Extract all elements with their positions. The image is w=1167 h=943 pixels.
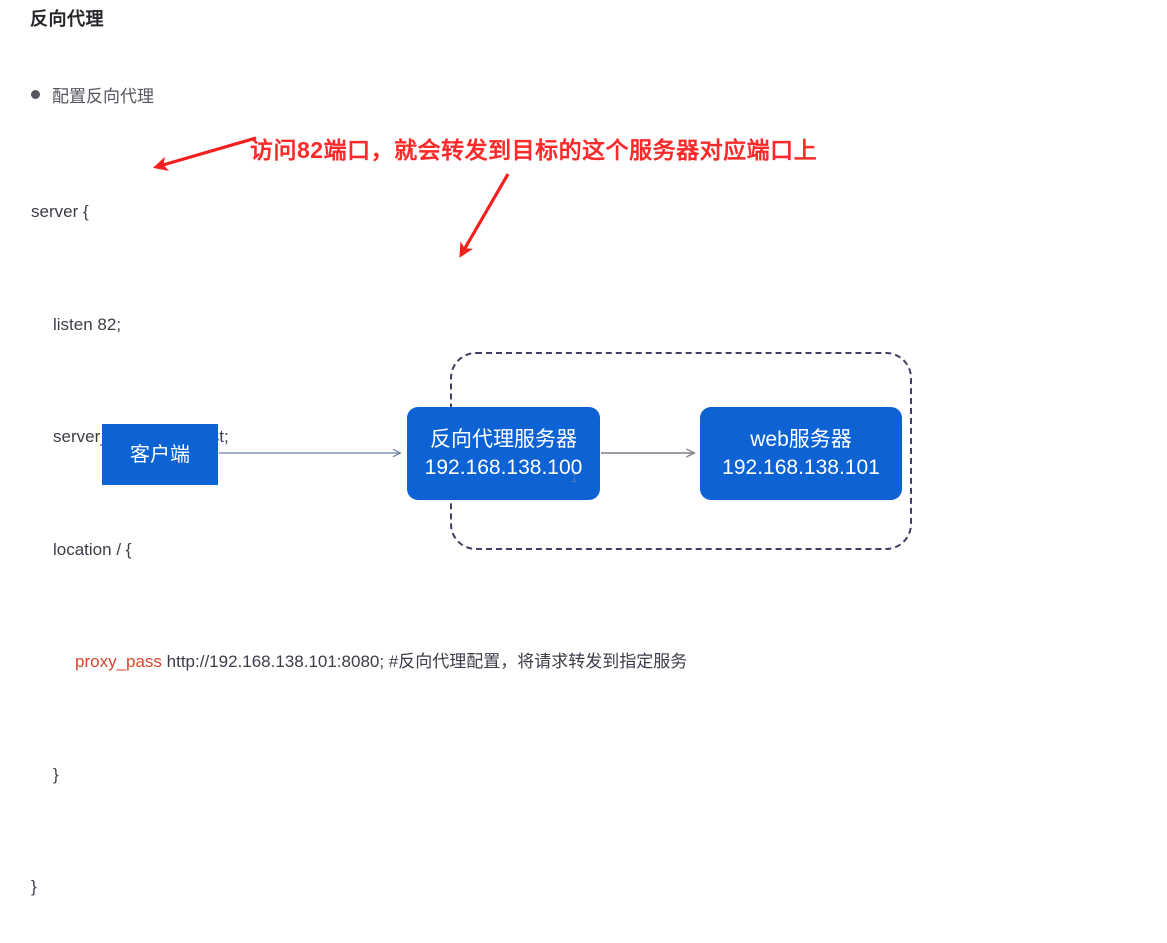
diagram-node-proxy-ip: 192.168.138.100 (425, 454, 583, 482)
reverse-proxy-diagram: 客户端 反向代理服务器 192.168.138.100 web服务器 192.1… (0, 0, 1167, 573)
code-proxy-pass-value: http://192.168.138.101:8080; #反向代理配置，将请求… (162, 652, 687, 671)
diagram-node-web-server[interactable]: web服务器 192.168.138.101 (700, 407, 902, 500)
diagram-node-proxy-title: 反向代理服务器 (430, 426, 577, 454)
diagram-node-web-ip: 192.168.138.101 (722, 454, 880, 482)
diagram-node-proxy-server[interactable]: 反向代理服务器 192.168.138.100 (407, 407, 600, 500)
text-cursor-icon: ⌶ (571, 474, 578, 485)
code-line-location-close: } (31, 756, 687, 794)
diagram-node-client[interactable]: 客户端 (102, 424, 218, 485)
code-line-server-close: } (31, 868, 687, 906)
diagram-node-web-title: web服务器 (750, 426, 852, 454)
code-line-proxy-pass: proxy_pass http://192.168.138.101:8080; … (31, 643, 687, 681)
code-keyword-proxy-pass: proxy_pass (75, 652, 162, 671)
diagram-node-client-title: 客户端 (130, 441, 190, 469)
